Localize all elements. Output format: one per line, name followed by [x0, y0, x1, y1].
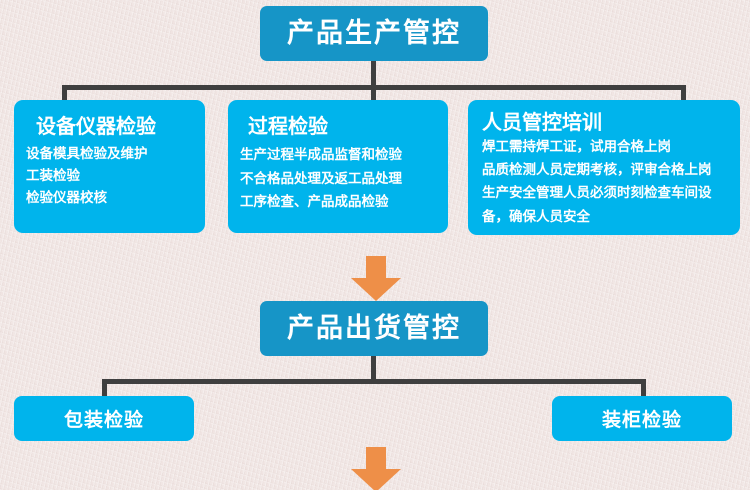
node-equipment-inspection-line-3: 检验仪器校核: [26, 188, 205, 210]
node-process-inspection-line-3: 工序检查、产品成品检验: [240, 191, 448, 215]
flowchart-canvas: 产品生产管控 设备仪器检验 设备模具检验及维护 工装检验 检验仪器校核 过程检验…: [0, 0, 750, 490]
node-personnel-training[interactable]: 人员管控培训 焊工需持焊工证，试用合格上岗 品质检测人员定期考核，评审合格上岗 …: [468, 100, 740, 235]
node-shipping-control[interactable]: 产品出货管控: [260, 301, 488, 356]
node-process-inspection-heading: 过程检验: [248, 114, 448, 138]
node-process-inspection-line-1: 生产过程半成品监督和检验: [240, 144, 448, 168]
node-packaging-inspection[interactable]: 包装检验: [14, 396, 194, 441]
node-production-control-label: 产品生产管控: [287, 20, 461, 47]
node-equipment-inspection[interactable]: 设备仪器检验 设备模具检验及维护 工装检验 检验仪器校核: [14, 100, 205, 233]
connector-stem-bottom: [371, 356, 376, 379]
node-personnel-training-line-2: 品质检测人员定期考核，评审合格上岗: [482, 159, 740, 182]
node-personnel-training-line-4: 备，确保人员安全: [482, 206, 740, 229]
node-personnel-training-line-3: 生产安全管理人员必须时刻检查车间设: [482, 182, 740, 205]
node-personnel-training-heading: 人员管控培训: [482, 110, 740, 134]
connector-drop-leaf-1: [102, 379, 107, 397]
node-container-loading-inspection[interactable]: 装柜检验: [552, 396, 732, 441]
node-container-loading-inspection-label: 装柜检验: [602, 405, 682, 432]
node-shipping-control-label: 产品出货管控: [287, 315, 461, 342]
node-personnel-training-line-1: 焊工需持焊工证，试用合格上岗: [482, 136, 740, 159]
node-packaging-inspection-label: 包装检验: [64, 405, 144, 432]
node-equipment-inspection-heading: 设备仪器检验: [36, 114, 205, 138]
down-arrow-to-shipping-icon: [349, 256, 403, 302]
connector-drop-leaf-2: [641, 379, 646, 397]
connector-stem-top: [371, 61, 376, 85]
node-process-inspection-line-2: 不合格品处理及返工品处理: [240, 168, 448, 192]
down-arrow-bottom-icon: [349, 447, 403, 490]
node-process-inspection[interactable]: 过程检验 生产过程半成品监督和检验 不合格品处理及返工品处理 工序检查、产品成品…: [228, 100, 448, 233]
connector-bar-bottom: [102, 379, 646, 384]
node-equipment-inspection-line-1: 设备模具检验及维护: [26, 144, 205, 166]
node-production-control[interactable]: 产品生产管控: [260, 6, 488, 61]
node-equipment-inspection-line-2: 工装检验: [26, 166, 205, 188]
